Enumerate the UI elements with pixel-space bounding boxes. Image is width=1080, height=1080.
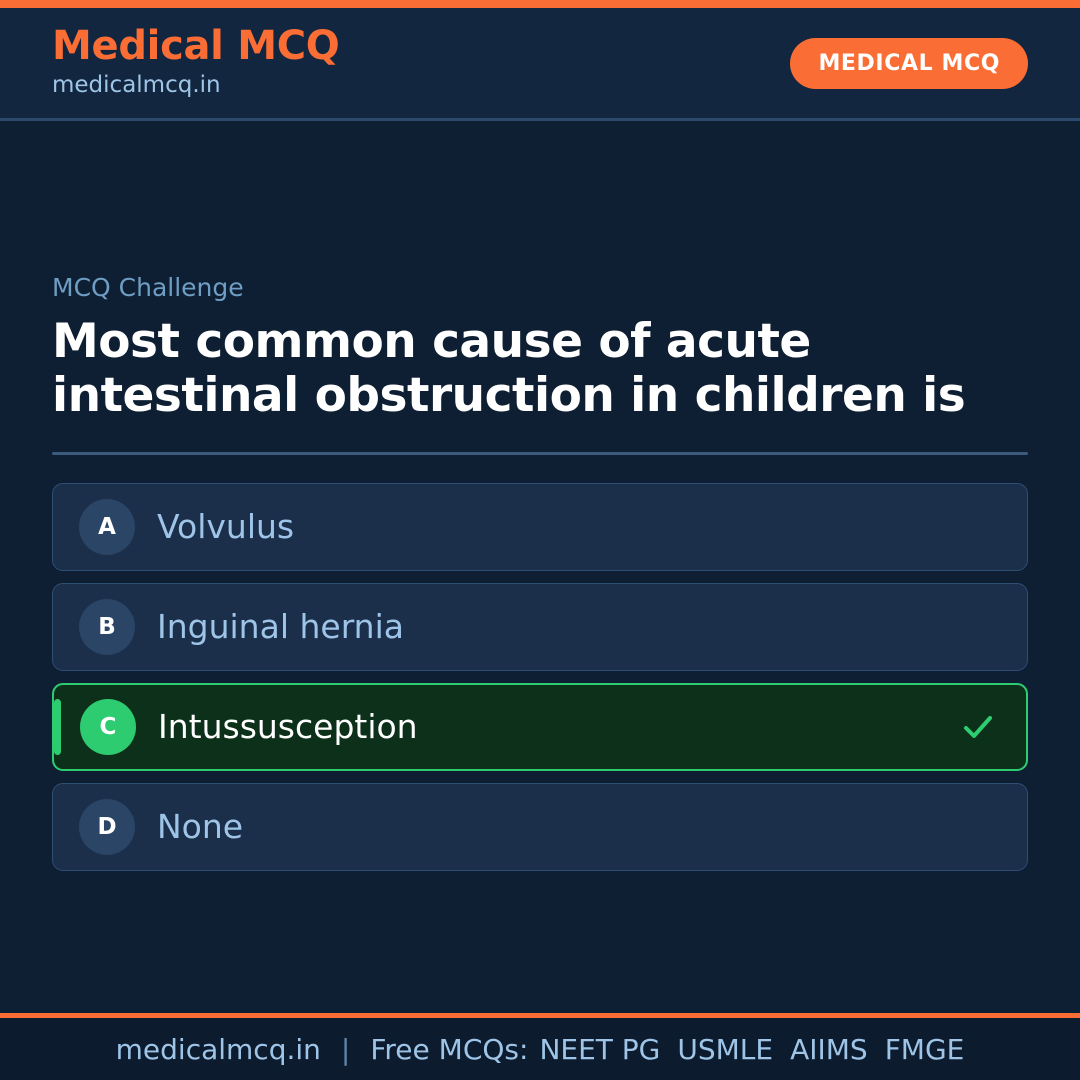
option-c[interactable]: C Intussusception	[52, 683, 1028, 771]
header-brand-pill: MEDICAL MCQ	[790, 38, 1028, 89]
footer-separator: |	[332, 1033, 359, 1066]
brand-title: Medical MCQ	[52, 25, 339, 67]
option-letter-badge: C	[80, 699, 136, 755]
option-d[interactable]: D None	[52, 783, 1028, 871]
options-list: A Volvulus B Inguinal hernia	[52, 483, 1028, 871]
top-accent-bar	[0, 0, 1080, 8]
option-label: None	[157, 807, 999, 847]
option-letter-badge: D	[79, 799, 135, 855]
question-divider	[52, 452, 1028, 455]
option-label: Volvulus	[157, 507, 999, 547]
footer-exam-list: NEET PG USMLE AIIMS FMGE	[539, 1033, 964, 1066]
option-letter-badge: B	[79, 599, 135, 655]
option-label: Inguinal hernia	[157, 607, 999, 647]
option-label: Intussusception	[158, 707, 958, 747]
main-content: MCQ Challenge Most common cause of acute…	[0, 121, 1080, 1013]
footer-exam-neet-pg: NEET PG	[539, 1033, 660, 1066]
footer-site: medicalmcq.in	[116, 1033, 321, 1066]
selected-accent-bar	[54, 699, 61, 755]
check-icon	[958, 707, 998, 747]
footer-content: medicalmcq.in | Free MCQs: NEET PG USMLE…	[116, 1033, 965, 1066]
footer-exam-fmge: FMGE	[885, 1033, 965, 1066]
footer-exam-usmle: USMLE	[677, 1033, 773, 1066]
page-header: Medical MCQ medicalmcq.in MEDICAL MCQ	[0, 8, 1080, 121]
option-letter-badge: A	[79, 499, 135, 555]
question-text: Most common cause of acute intestinal ob…	[52, 315, 1012, 422]
footer-exam-aiims: AIIMS	[790, 1033, 868, 1066]
brand-block: Medical MCQ medicalmcq.in	[52, 25, 339, 101]
eyebrow-label: MCQ Challenge	[52, 273, 1028, 303]
footer-exams-label: Free MCQs:	[370, 1033, 528, 1066]
page-footer: medicalmcq.in | Free MCQs: NEET PG USMLE…	[0, 1013, 1080, 1080]
brand-subtitle: medicalmcq.in	[52, 69, 339, 101]
option-a[interactable]: A Volvulus	[52, 483, 1028, 571]
option-b[interactable]: B Inguinal hernia	[52, 583, 1028, 671]
question-block: MCQ Challenge Most common cause of acute…	[52, 273, 1028, 871]
